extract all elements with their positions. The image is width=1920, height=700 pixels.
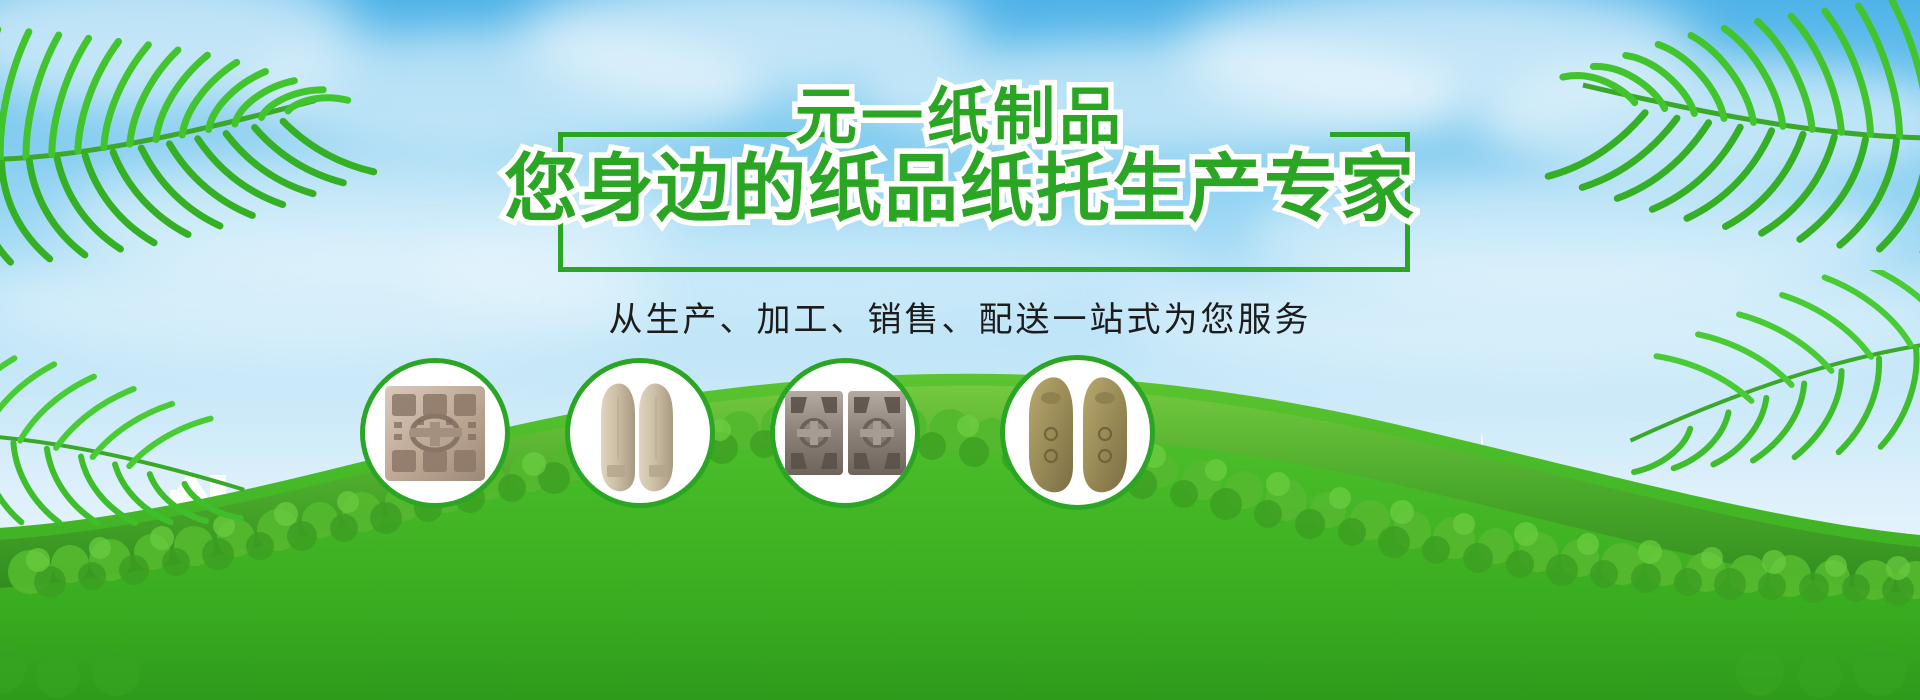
promotional-banner: 元一纸制品 您身边的纸品纸托生产专家 从生产、加工、销售、配送一站式为您服务 [0, 0, 1920, 700]
subtitle-text: 从生产、加工、销售、配送一站式为您服务 [0, 292, 1920, 341]
molded-pulp-shoe-insert-pair-icon [585, 373, 695, 493]
molded-pulp-shoe-sole-pair-icon [1019, 370, 1137, 495]
product-circle-3[interactable] [770, 358, 920, 508]
product-circle-2[interactable] [565, 358, 715, 508]
molded-pulp-tray-square-icon [380, 378, 490, 488]
green-hill-shape [0, 280, 1920, 700]
cloud-shape [1480, 60, 1920, 180]
product-circle-1[interactable] [360, 358, 510, 508]
product-circle-4[interactable] [1000, 355, 1155, 510]
molded-pulp-tray-pair-icon [783, 383, 908, 483]
